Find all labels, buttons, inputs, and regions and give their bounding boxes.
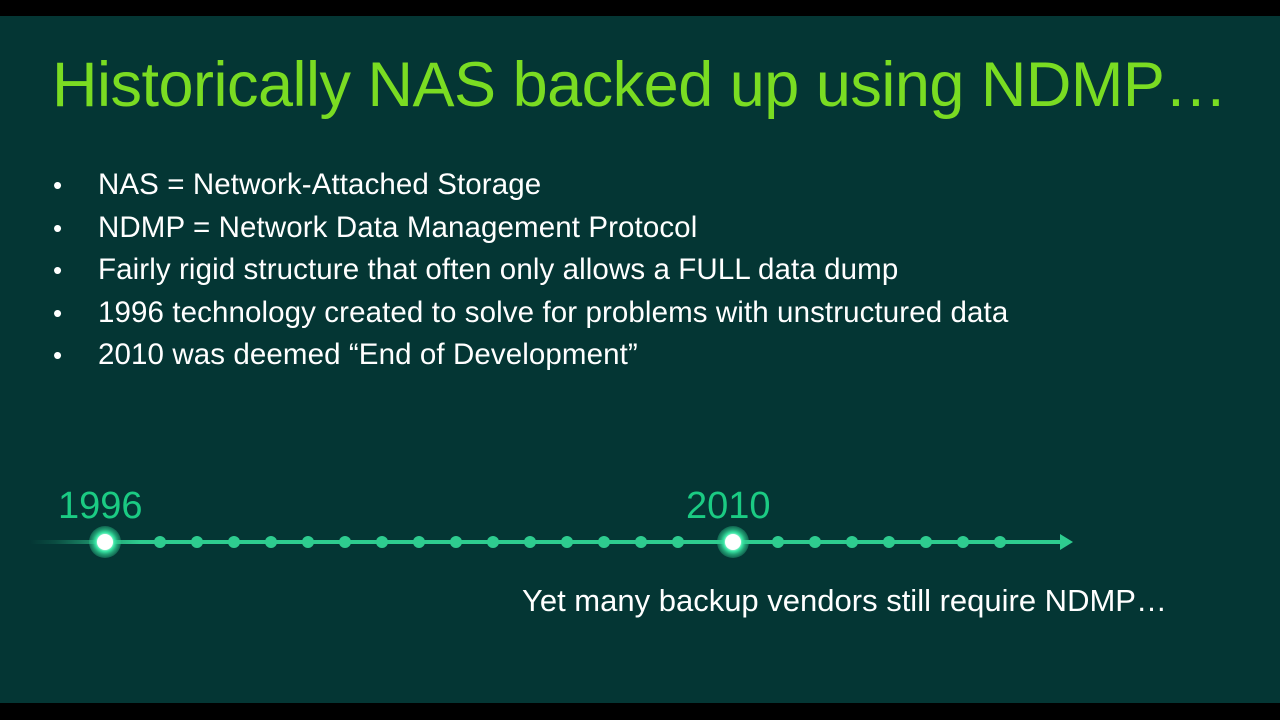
timeline-tick-dot — [957, 536, 969, 548]
timeline-tick-dot — [191, 536, 203, 548]
bullet-point-icon: • — [48, 207, 98, 250]
timeline-tick-dot — [809, 536, 821, 548]
timeline-tick-dot — [265, 536, 277, 548]
timeline-tick-dot — [561, 536, 573, 548]
timeline-tick-dot — [846, 536, 858, 548]
timeline-tick-dot — [772, 536, 784, 548]
timeline-marker-1996[interactable] — [89, 526, 121, 558]
page-title: Historically NAS backed up using NDMP… — [52, 49, 1242, 121]
timeline-tick-dot — [302, 536, 314, 548]
list-item: • NAS = Network-Attached Storage — [48, 164, 1248, 207]
list-item-label: 1996 technology created to solve for pro… — [98, 292, 1008, 335]
timeline-year-label-2010: 2010 — [686, 484, 771, 528]
timeline-tick-dot — [635, 536, 647, 548]
list-item: • 2010 was deemed “End of Development” — [48, 334, 1248, 377]
bullet-point-icon: • — [48, 334, 98, 377]
timeline-tick-dot — [450, 536, 462, 548]
bullet-point-icon: • — [48, 164, 98, 207]
list-item: • NDMP = Network Data Management Protoco… — [48, 207, 1248, 250]
timeline-tick-dot — [920, 536, 932, 548]
list-item-label: NDMP = Network Data Management Protocol — [98, 207, 697, 250]
timeline-tick-dot — [228, 536, 240, 548]
timeline-tick-dot — [883, 536, 895, 548]
slide-canvas: Historically NAS backed up using NDMP… •… — [0, 16, 1280, 703]
list-item-label: Fairly rigid structure that often only a… — [98, 249, 898, 292]
timeline-marker-2010[interactable] — [717, 526, 749, 558]
timeline-tick-dot — [672, 536, 684, 548]
timeline-tick-dot — [413, 536, 425, 548]
timeline-tick-dot — [524, 536, 536, 548]
timeline-year-label-1996: 1996 — [58, 484, 143, 528]
bullet-list: • NAS = Network-Attached Storage • NDMP … — [48, 164, 1248, 377]
slide-root: Historically NAS backed up using NDMP… •… — [0, 0, 1280, 720]
timeline-tick-dot — [487, 536, 499, 548]
timeline-graphic: 1996 2010 — [0, 456, 1280, 586]
timeline-tick-dot — [376, 536, 388, 548]
timeline-tick-dot — [994, 536, 1006, 548]
bullet-point-icon: • — [48, 292, 98, 335]
list-item: • 1996 technology created to solve for p… — [48, 292, 1248, 335]
timeline-marker-core — [725, 534, 741, 550]
list-item: • Fairly rigid structure that often only… — [48, 249, 1248, 292]
letterbox-top — [0, 0, 1280, 16]
letterbox-bottom — [0, 703, 1280, 720]
slide-caption: Yet many backup vendors still require ND… — [522, 580, 1167, 622]
arrow-right-icon — [1060, 534, 1073, 550]
list-item-label: NAS = Network-Attached Storage — [98, 164, 541, 207]
bullet-point-icon: • — [48, 249, 98, 292]
timeline-tick-dot — [154, 536, 166, 548]
timeline-tick-dot — [339, 536, 351, 548]
list-item-label: 2010 was deemed “End of Development” — [98, 334, 638, 377]
timeline-tick-dot — [598, 536, 610, 548]
timeline-axis-line — [30, 540, 1070, 544]
timeline-marker-core — [97, 534, 113, 550]
